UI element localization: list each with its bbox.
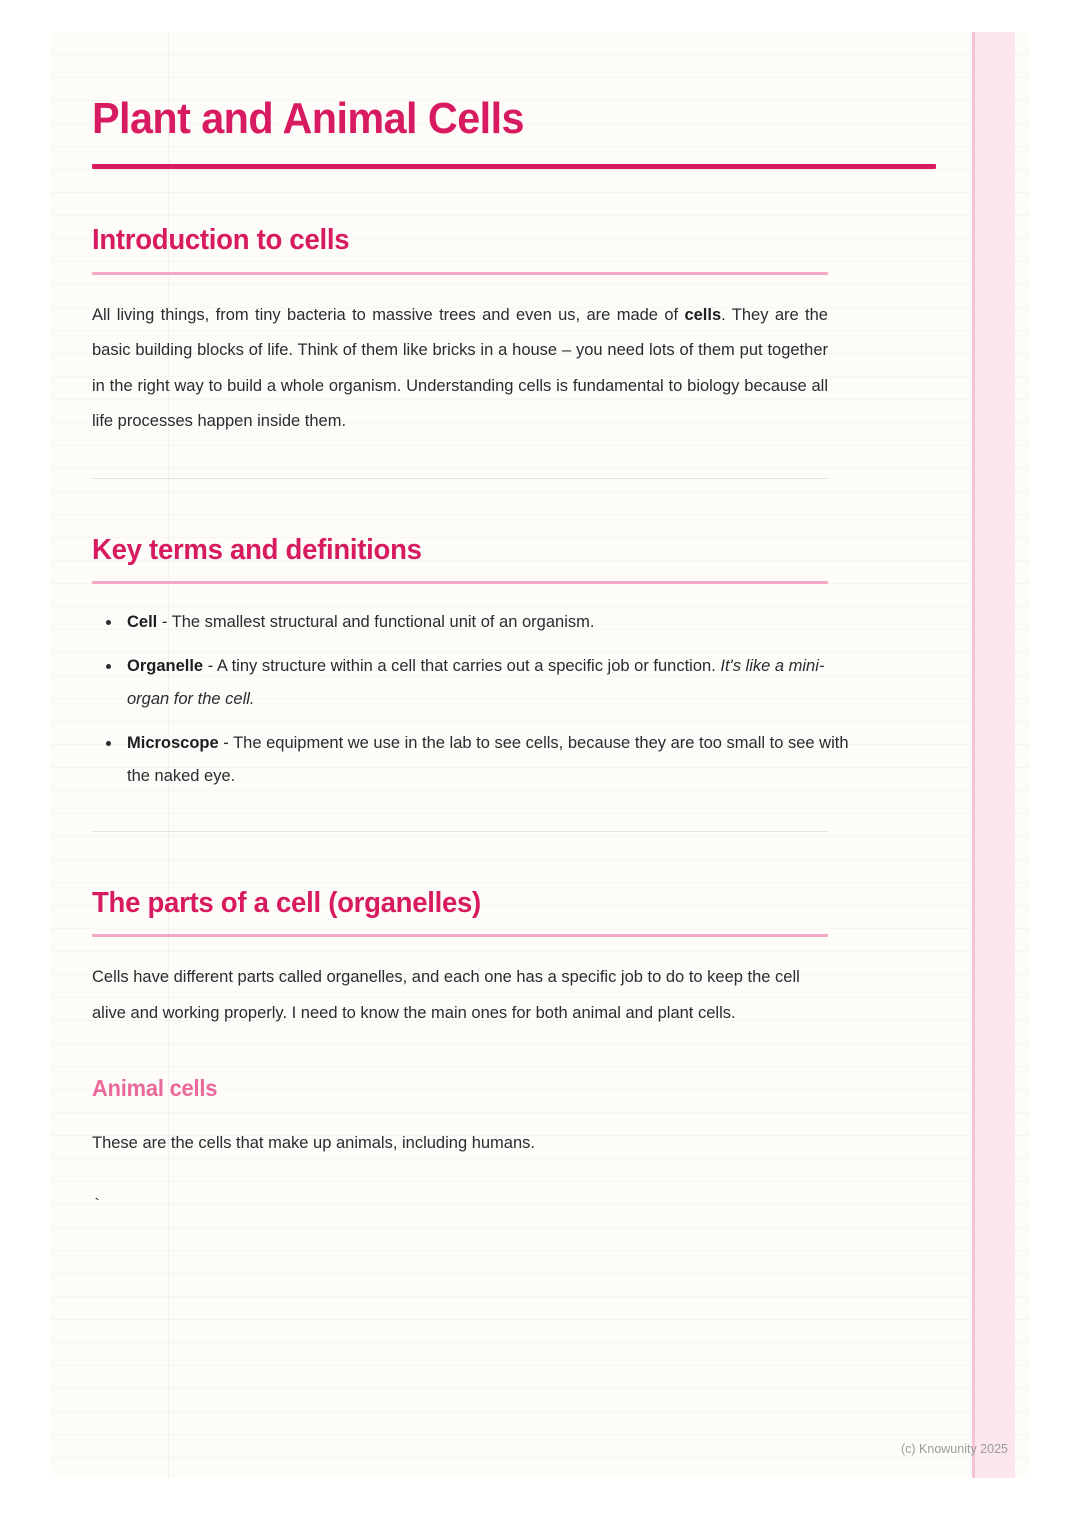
heading-underline-rule	[92, 581, 828, 584]
list-item: Cell - The smallest structural and funct…	[127, 606, 863, 639]
footer-copyright: (c) Knowunity 2025	[901, 1442, 1008, 1456]
cell-parts-paragraph: Cells have different parts called organe…	[92, 960, 828, 1031]
section-heading-introduction: Introduction to cells	[92, 224, 839, 257]
list-item: Microscope - The equipment we use in the…	[127, 727, 863, 793]
term-label: Cell	[127, 613, 157, 631]
term-definition: The equipment we use in the lab to see c…	[127, 734, 849, 785]
document-content: Plant and Animal Cells Introduction to c…	[92, 32, 878, 1222]
introduction-paragraph: All living things, from tiny bacteria to…	[92, 298, 828, 440]
section-heading-key-terms: Key terms and definitions	[92, 534, 839, 567]
page-title: Plant and Animal Cells	[92, 94, 831, 143]
intro-bold-term: cells	[684, 306, 721, 324]
term-separator: -	[219, 734, 233, 752]
term-definition: A tiny structure within a cell that carr…	[217, 657, 720, 675]
heading-underline-rule	[92, 272, 828, 275]
term-label: Organelle	[127, 657, 203, 675]
section-divider	[92, 478, 828, 479]
subsection-heading-animal-cells: Animal cells	[92, 1075, 839, 1103]
section-divider	[92, 831, 828, 832]
key-terms-list: Cell - The smallest structural and funct…	[92, 606, 863, 793]
intro-text-part-2: . They are the basic building blocks of …	[92, 306, 828, 431]
right-margin-pink-band	[975, 32, 1015, 1478]
stray-backtick-mark: `	[92, 1189, 878, 1222]
intro-text-part-1: All living things, from tiny bacteria to…	[92, 306, 684, 324]
title-underline-rule	[92, 164, 936, 169]
list-item: Organelle - A tiny structure within a ce…	[127, 650, 863, 716]
document-page: Plant and Animal Cells Introduction to c…	[50, 32, 1030, 1478]
section-heading-cell-parts: The parts of a cell (organelles)	[92, 887, 839, 920]
term-label: Microscope	[127, 734, 219, 752]
animal-cells-paragraph: These are the cells that make up animals…	[92, 1126, 828, 1162]
term-separator: -	[157, 613, 171, 631]
term-definition: The smallest structural and functional u…	[172, 613, 595, 631]
right-band-edge-line	[972, 32, 975, 1478]
term-separator: -	[203, 657, 217, 675]
heading-underline-rule	[92, 934, 828, 937]
